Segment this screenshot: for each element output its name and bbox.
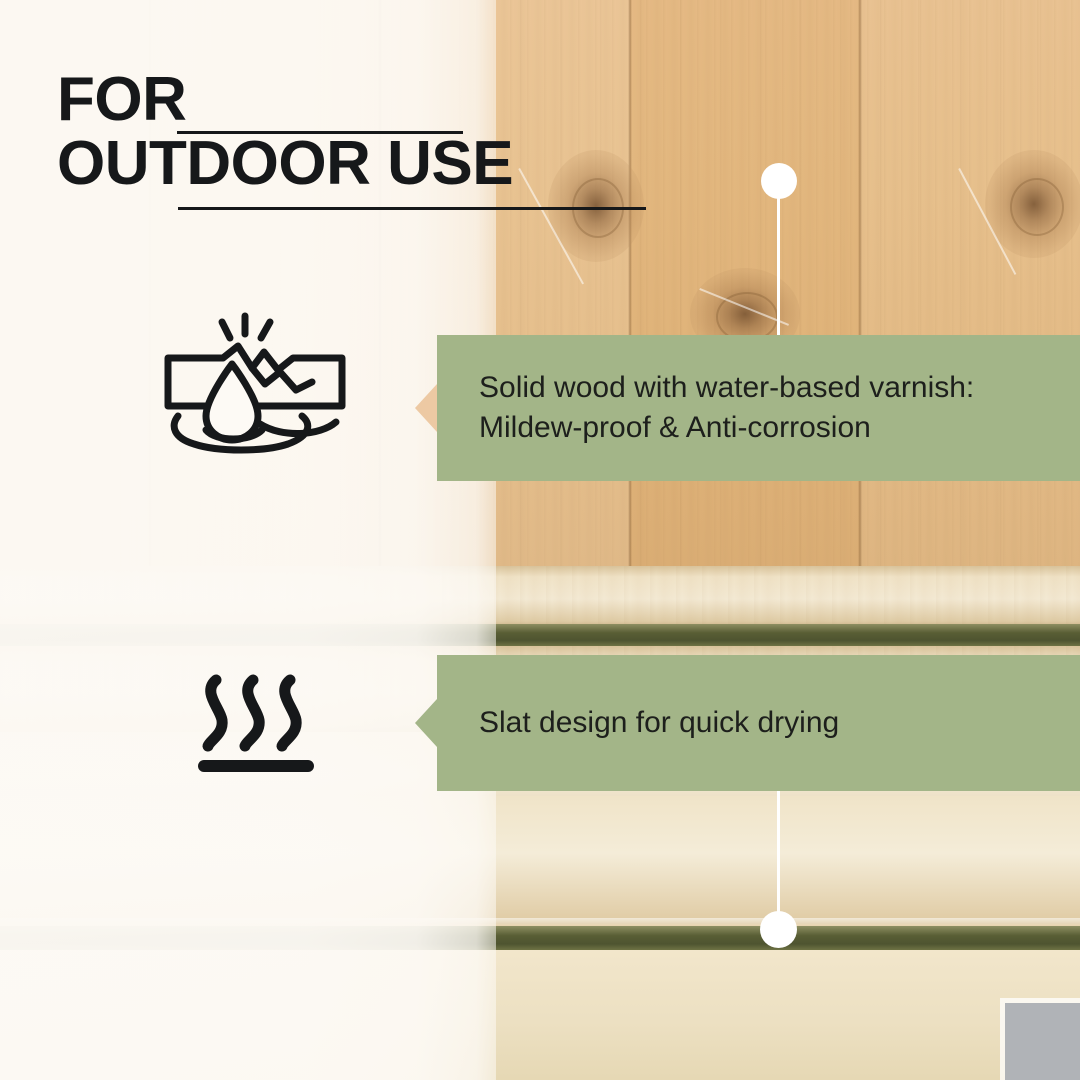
feature-text-water-resistant: Solid wood with water-based varnish: Mil… bbox=[437, 368, 974, 448]
connector-line-bottom bbox=[777, 788, 780, 920]
feature-banner-water-resistant: Solid wood with water-based varnish: Mil… bbox=[437, 335, 1080, 481]
wood-knot-ring bbox=[1010, 178, 1064, 236]
water-drop-crack-icon bbox=[160, 312, 350, 462]
marker-dot-bottom bbox=[760, 911, 797, 948]
title-line-2: OUTDOOR USE bbox=[57, 132, 697, 196]
title-rule-bottom bbox=[178, 207, 646, 210]
infographic-canvas: FOR OUTDOOR USE bbox=[0, 0, 1080, 1080]
feature-banner-quick-drying: Slat design for quick drying bbox=[437, 655, 1080, 791]
plank-seam bbox=[858, 0, 862, 566]
corner-swatch bbox=[1005, 1003, 1080, 1080]
plank-tone bbox=[860, 0, 1080, 566]
drying-waves-icon bbox=[196, 668, 316, 778]
banner-notch-arrow bbox=[415, 699, 437, 747]
feature-text-quick-drying: Slat design for quick drying bbox=[437, 703, 839, 743]
marker-dot-top bbox=[761, 163, 797, 199]
connector-line-top bbox=[777, 180, 780, 338]
banner-notch-arrow bbox=[415, 384, 437, 432]
title-line-1: FOR bbox=[57, 68, 697, 132]
title-rule-top bbox=[177, 131, 463, 134]
